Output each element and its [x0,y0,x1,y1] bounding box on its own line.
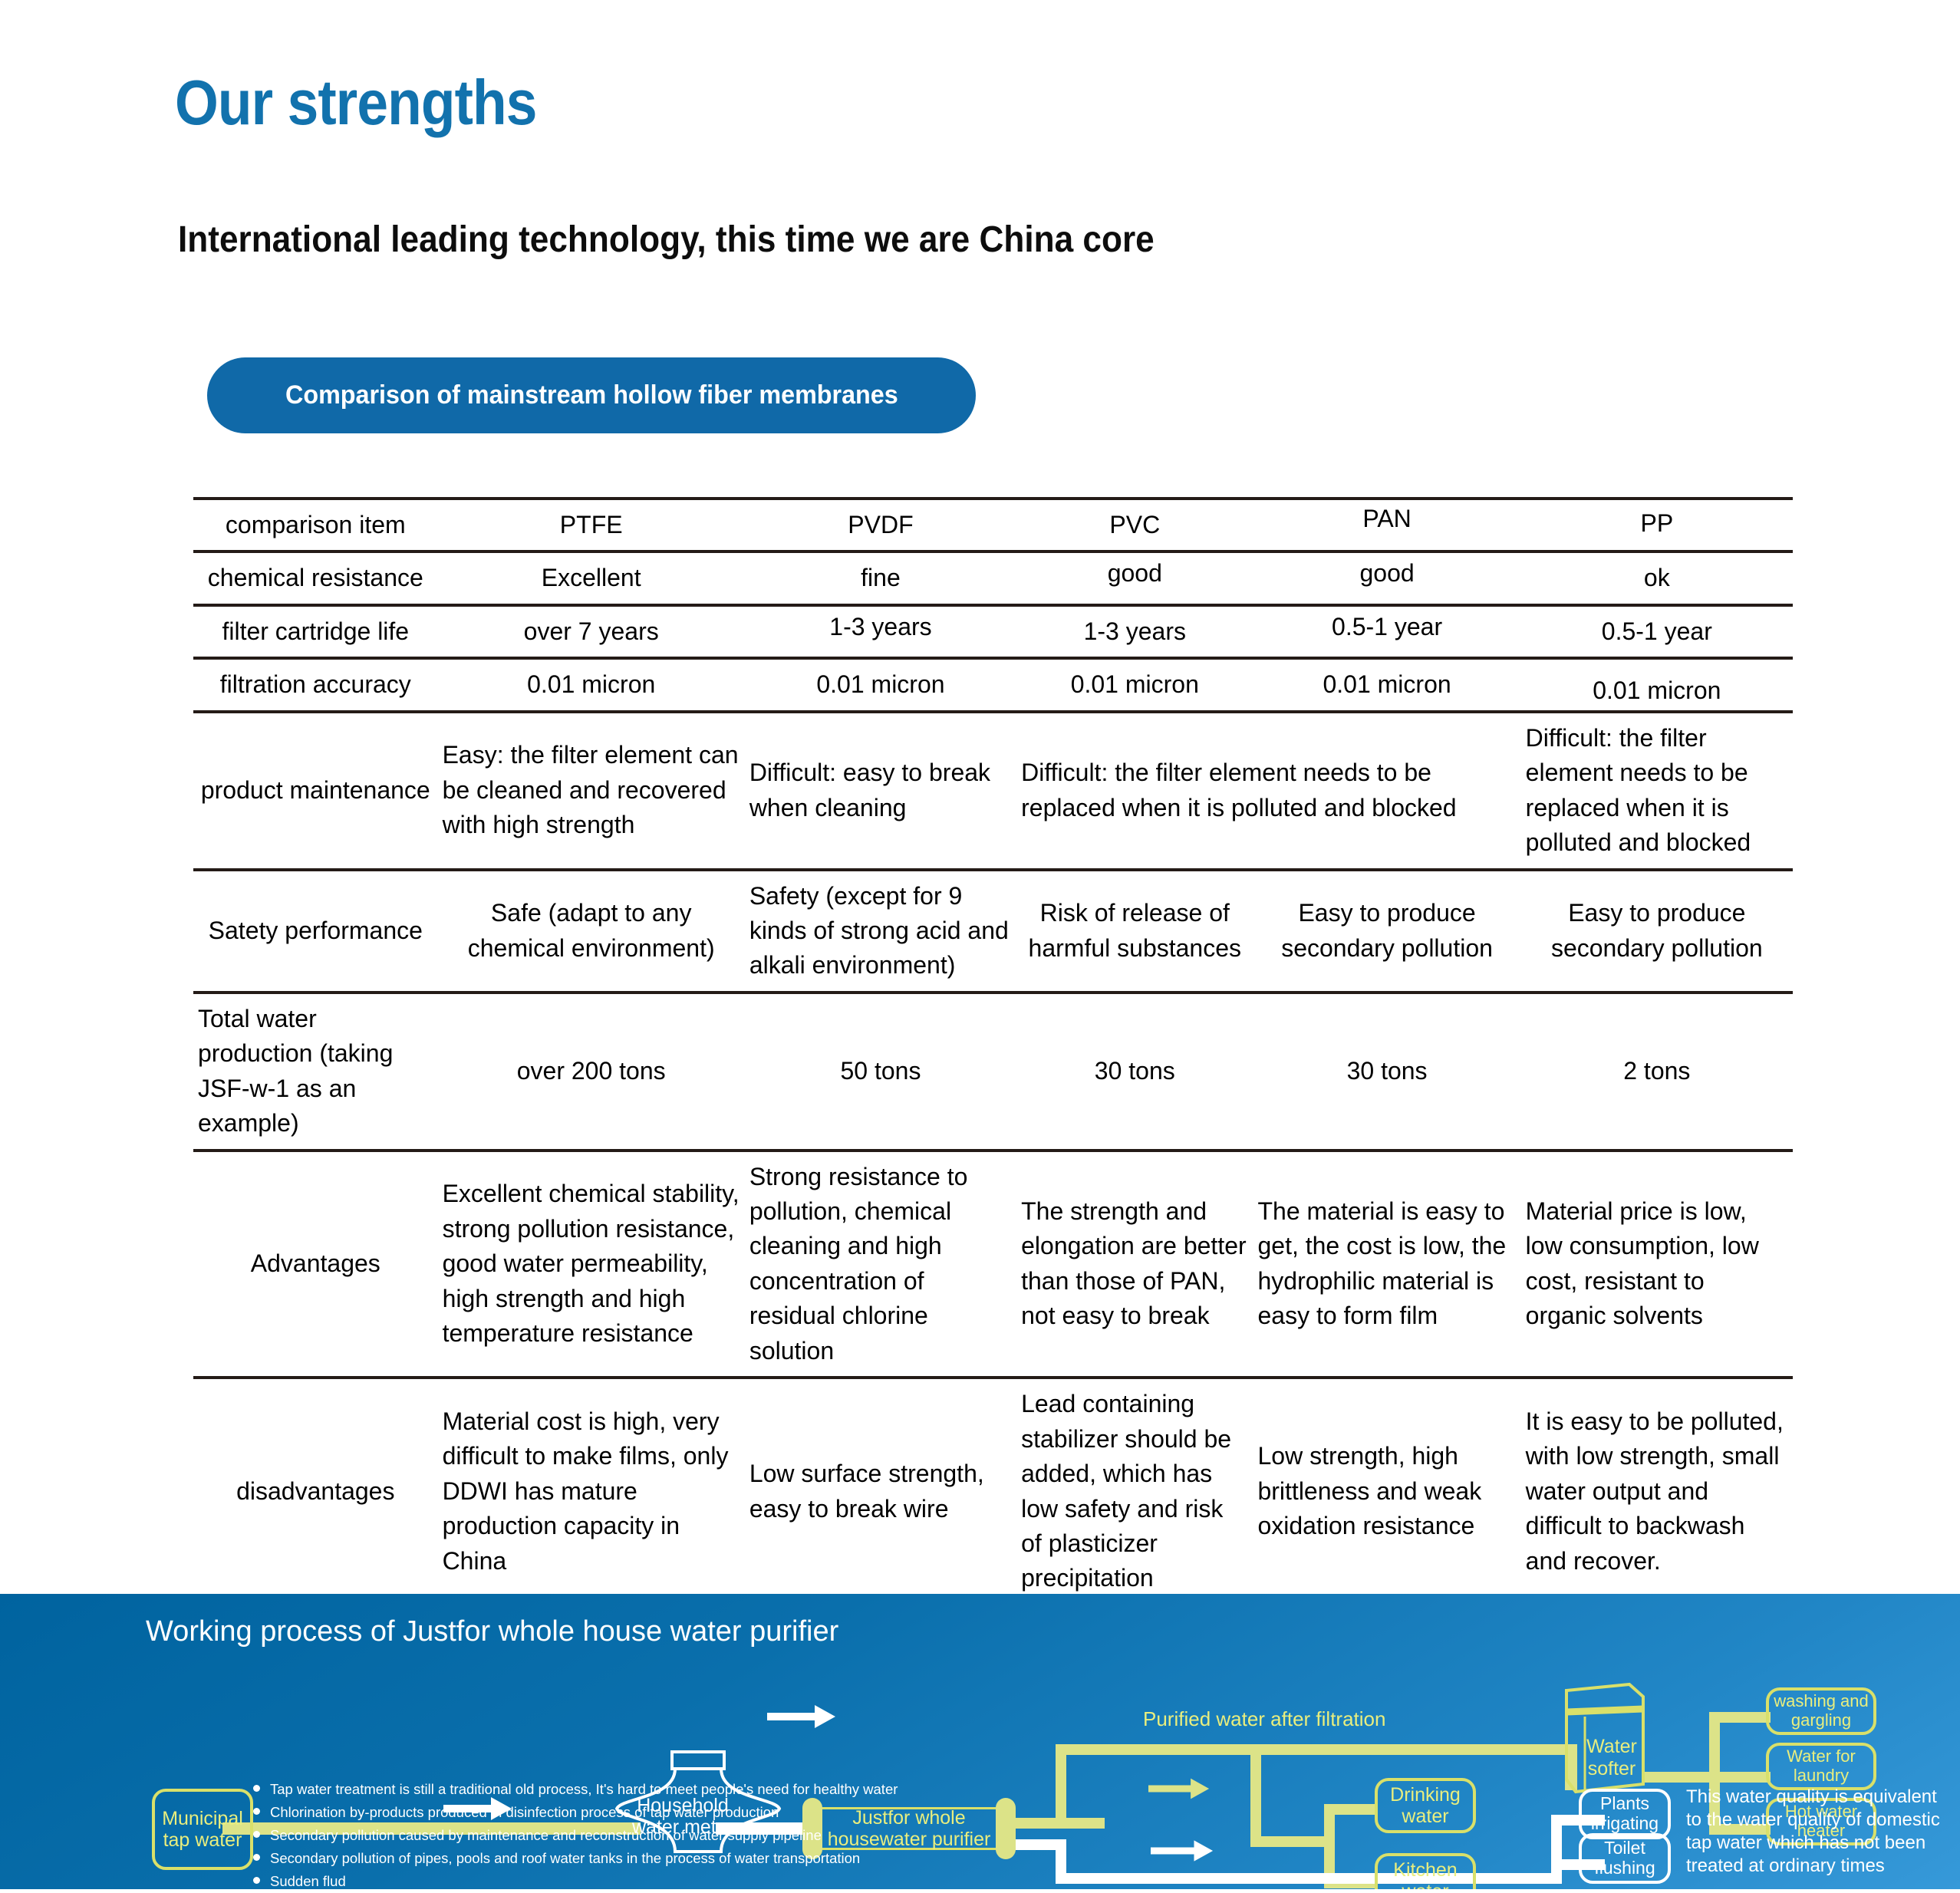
row-label: product maintenance [193,712,438,870]
node-label: Drinking water [1390,1784,1461,1827]
table-row: product maintenance Easy: the filter ele… [193,712,1793,870]
pipe-purified-to-taps [1250,1836,1335,1847]
table-row: disadvantages Material cost is high, ver… [193,1378,1793,1605]
cell-ptfe: Safe (adapt to any chemical environment) [438,870,745,993]
pipe-to-laundry [1709,1772,1771,1783]
list-item: Sudden flud [253,1870,944,1893]
cell-ptfe: Excellent chemical stability, strong pol… [438,1151,745,1378]
cell-ptfe: Easy: the filter element can be cleaned … [438,712,745,870]
comparison-badge: Comparison of mainstream hollow fiber me… [207,357,976,433]
cell-pvc: 30 tons [1016,993,1253,1151]
cell-pvc: good [1016,547,1253,600]
list-item: Chlorination by-products produced in dis… [253,1801,944,1824]
pipe-to-washing [1709,1712,1771,1723]
cell-pp: Easy to produce secondary pollution [1521,870,1793,993]
pipe-purified-riser [1056,1744,1066,1829]
cell-pvdf: Strong resistance to pollution, chemical… [745,1151,1016,1378]
node-water-softer-label: Water softer [1570,1736,1654,1779]
bullet-list: Tap water treatment is still a tradition… [253,1778,944,1893]
col-header-pp: PP [1521,497,1793,550]
row-label: disadvantages [193,1378,438,1605]
node-washing-gargling[interactable]: washing and gargling [1766,1687,1876,1735]
cell-pp: It is easy to be polluted, with low stre… [1521,1378,1793,1605]
pipe-softer-out [1643,1772,1720,1783]
node-kitchen-water[interactable]: Kitchen water [1375,1853,1476,1889]
cell-pvc: Risk of release of harmful substances [1016,870,1253,993]
table-row: Total water production (taking JSF-w-1 a… [193,993,1793,1151]
node-drinking-water[interactable]: Drinking water [1375,1778,1476,1833]
tap-water-issues-list: Tap water treatment is still a tradition… [253,1778,944,1893]
cell-pvdf: Safety (except for 9 kinds of strong aci… [745,870,1016,993]
table-row: chemical resistance Excellent fine good … [193,551,1793,604]
pipe-to-drinking [1324,1804,1378,1815]
cell-pan: 0.5-1 year [1253,601,1520,653]
cell-pp: 0.01 micron [1521,664,1793,717]
cell-ptfe: 0.01 micron [438,658,745,711]
membrane-comparison-table: comparison item PTFE PVDF PVC PAN PP che… [193,497,1793,1607]
cell-pan: 30 tons [1253,993,1520,1151]
cell-pvdf: 50 tons [745,993,1016,1151]
cell-pan: 0.01 micron [1253,658,1520,711]
pipe-purified-main [1056,1744,1566,1755]
cell-pan: The material is easy to get, the cost is… [1253,1151,1520,1378]
page-subtitle: International leading technology, this t… [178,219,1155,261]
node-municipal-tap-water[interactable]: Municipal tap water [152,1789,253,1870]
list-item: Secondary pollution of pipes, pools and … [253,1847,944,1870]
row-label: filter cartridge life [193,605,438,658]
flow-arrow-icon [1148,1776,1210,1801]
cell-pan: good [1253,547,1520,600]
cell-pvdf: 0.01 micron [745,658,1016,711]
pipe-discharge-main [1056,1873,1562,1884]
cell-pp: Material price is low, low consumption, … [1521,1151,1793,1378]
cell-pan: Easy to produce secondary pollution [1253,870,1520,993]
label-purified-water: Purified water after filtration [1143,1707,1385,1731]
table-header-row: comparison item PTFE PVDF PVC PAN PP [193,499,1793,551]
water-quality-note: This water quality is equivalent to the … [1686,1786,1947,1878]
cell-pvc: Lead containing stabilizer should be add… [1016,1378,1253,1605]
row-label: Advantages [193,1151,438,1378]
cell-pvc: Difficult: the filter element needs to b… [1016,712,1521,870]
node-water-for-laundry[interactable]: Water for laundry [1766,1743,1876,1790]
purifier-cap-right [996,1798,1016,1859]
cell-pvdf: Difficult: easy to break when cleaning [745,712,1016,870]
node-label: Water for laundry [1787,1747,1856,1785]
table-row: Satety performance Safe (adapt to any ch… [193,870,1793,993]
row-label: chemical resistance [193,551,438,604]
flow-arrow-icon [1151,1838,1214,1864]
cell-pvc: 1-3 years [1016,605,1253,658]
col-header-pvc: PVC [1016,499,1253,551]
page-title: Our strengths [175,66,536,140]
cell-pan: Low strength, high brittleness and weak … [1253,1378,1520,1605]
row-label: Satety performance [193,870,438,993]
cell-ptfe: over 7 years [438,605,745,658]
node-label: Kitchen water [1393,1859,1457,1889]
list-item: Secondary pollution caused by maintenanc… [253,1824,944,1847]
node-label: washing and gargling [1774,1692,1869,1730]
node-label: Municipal tap water [162,1808,243,1851]
node-label: Plants irrigating [1591,1794,1659,1834]
node-label: Toilet flushing [1594,1839,1655,1878]
cell-pvdf: Low surface strength, easy to break wire [745,1378,1016,1605]
cell-pvc: 0.01 micron [1016,658,1253,711]
cell-pvdf: fine [745,551,1016,604]
comparison-badge-label: Comparison of mainstream hollow fiber me… [285,380,898,410]
table-row: Advantages Excellent chemical stability,… [193,1151,1793,1378]
cell-pp: 0.5-1 year [1521,605,1793,658]
diagram-title: Working process of Justfor whole house w… [146,1615,838,1648]
cell-pp: ok [1521,551,1793,604]
cell-pan: Difficult: the filter element needs to b… [1521,712,1793,870]
cell-ptfe: Material cost is high, very difficult to… [438,1378,745,1605]
row-label: filtration accuracy [193,658,438,711]
cell-pp: 2 tons [1521,993,1793,1151]
col-header-pan: PAN [1253,492,1520,545]
flow-arrow-icon [767,1703,836,1730]
list-item: Tap water treatment is still a tradition… [253,1778,944,1801]
row-label: Total water production (taking JSF-w-1 a… [193,993,438,1151]
table-row: filtration accuracy 0.01 micron 0.01 mic… [193,658,1793,711]
node-plants-irrigating[interactable]: Plants irrigating [1579,1789,1671,1839]
cell-pvc: The strength and elongation are better t… [1016,1151,1253,1378]
col-header-pvdf: PVDF [745,499,1016,551]
col-header-item: comparison item [193,499,438,551]
pipe-purified-drop [1250,1744,1261,1847]
cell-pvdf: 1-3 years [745,601,1016,653]
cell-ptfe: over 200 tons [438,993,745,1151]
node-toilet-flushing[interactable]: Toilet flushing [1579,1833,1671,1884]
col-header-ptfe: PTFE [438,499,745,551]
table-row: filter cartridge life over 7 years 1-3 y… [193,605,1793,658]
cell-ptfe: Excellent [438,551,745,604]
pipe-purifier-out-top [1005,1818,1105,1829]
